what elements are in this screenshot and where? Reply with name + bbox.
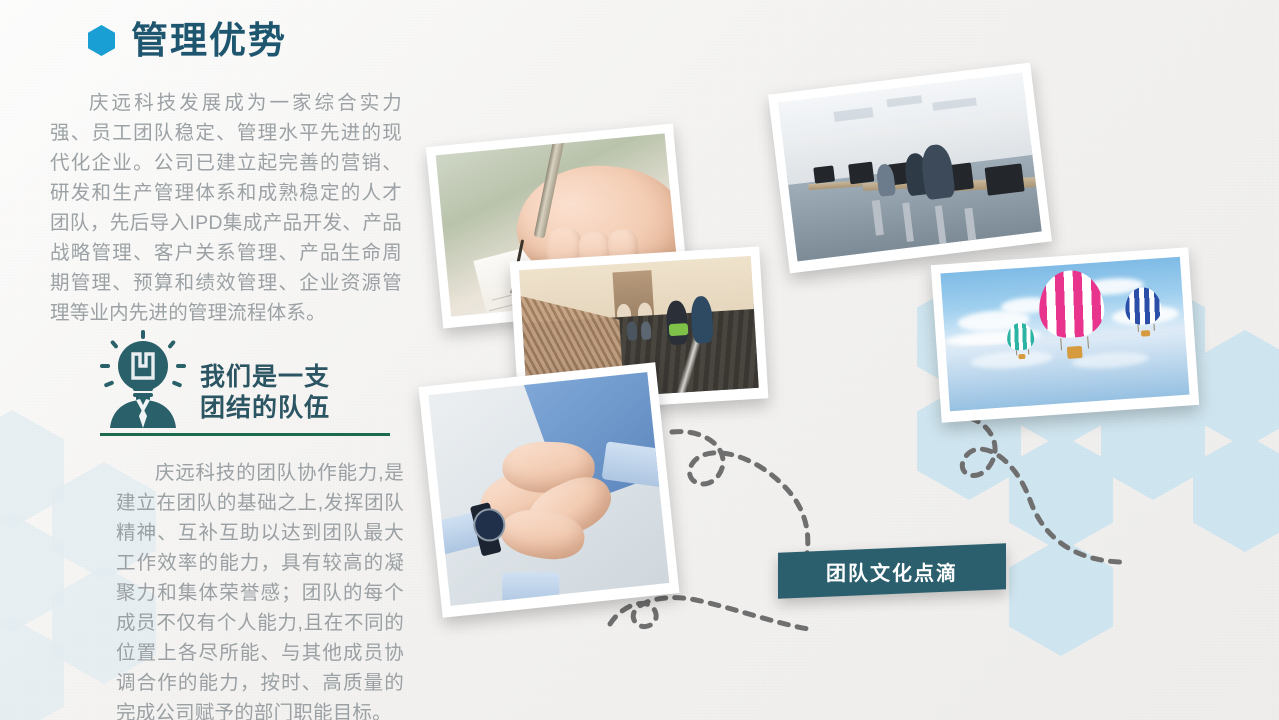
balloon-teal xyxy=(1006,322,1035,360)
slide-canvas: 管理优势 庆远科技发展成为一家综合实力强、员工团队稳定、管理水平先进的现代化企业… xyxy=(0,0,1279,720)
photo-hands-image xyxy=(428,372,669,606)
photo-balloons xyxy=(931,247,1199,423)
teamwork-heading: 我们是一支 团结的队伍 xyxy=(200,362,330,428)
photo-office xyxy=(768,63,1052,274)
teamwork-paragraph: 庆远科技的团队协作能力,是建立在团队的基础之上,发挥团队精神、互补互助以达到团队… xyxy=(116,458,404,720)
balloon-pink xyxy=(1037,268,1108,361)
page-title: 管理优势 xyxy=(131,22,287,59)
dashed-arrow-decoration xyxy=(600,410,1140,640)
teamwork-header: 我们是一支 团结的队伍 xyxy=(100,330,390,428)
lightbulb-head-person-icon xyxy=(100,330,186,428)
culture-banner[interactable]: 团队文化点滴 xyxy=(778,543,1006,599)
photo-office-image xyxy=(778,73,1042,262)
slide-header: 管理优势 xyxy=(88,22,287,59)
culture-banner-label: 团队文化点滴 xyxy=(826,557,958,586)
teamwork-block: 我们是一支 团结的队伍 庆远科技的团队协作能力,是建立在团队的基础之上,发挥团队… xyxy=(100,330,390,720)
photo-hands xyxy=(419,362,680,618)
intro-paragraph: 庆远科技发展成为一家综合实力强、员工团队稳定、管理水平先进的现代化企业。公司已建… xyxy=(50,88,402,328)
hexagon-icon xyxy=(88,25,115,56)
teamwork-divider xyxy=(100,433,390,436)
left-text-column: 庆远科技发展成为一家综合实力强、员工团队稳定、管理水平先进的现代化企业。公司已建… xyxy=(50,88,402,328)
balloon-blue xyxy=(1124,286,1163,338)
photo-balloons-image xyxy=(940,257,1189,411)
